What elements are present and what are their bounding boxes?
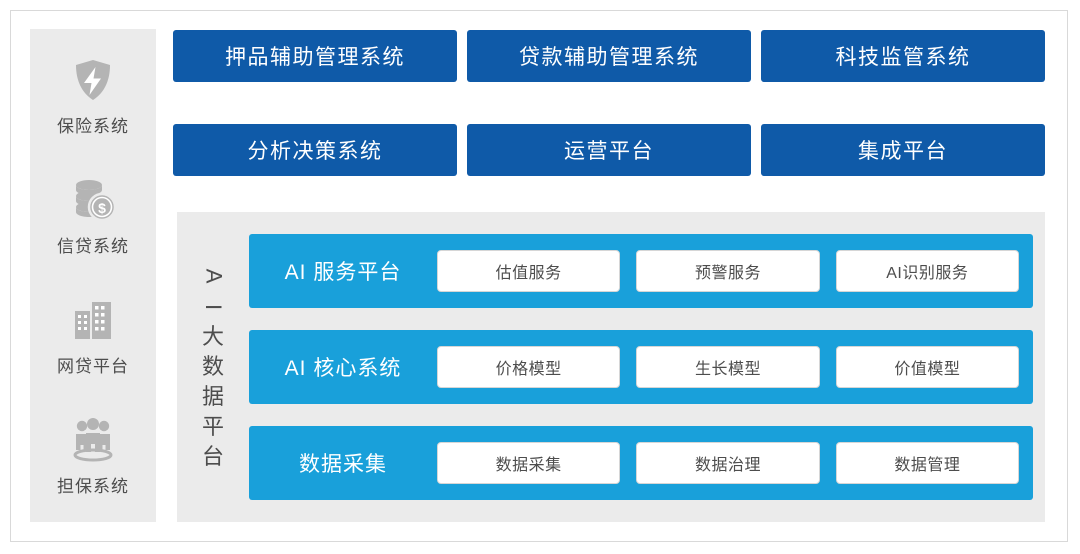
people-group-icon <box>65 414 121 466</box>
vertical-char-I: I <box>199 304 227 310</box>
ai-layer-data-collection[interactable]: 数据采集 数据采集 数据治理 数据管理 <box>249 426 1033 500</box>
chip-price-model[interactable]: 价格模型 <box>437 346 620 388</box>
system-bar-operations-platform[interactable]: 运营平台 <box>467 124 751 176</box>
vertical-char-da: 大 <box>202 323 224 351</box>
sidebar-item-insurance[interactable]: 保险系统 <box>30 54 156 137</box>
sidebar-item-label: 信贷系统 <box>57 232 129 257</box>
chip-data-management[interactable]: 数据管理 <box>836 442 1019 484</box>
platform-systems-row: 分析决策系统 运营平台 集成平台 <box>173 124 1045 176</box>
shield-bolt-icon <box>65 54 121 106</box>
sidebar-item-credit[interactable]: $ 信贷系统 <box>30 174 156 257</box>
vertical-char-shu: 数 <box>202 353 224 381</box>
system-bar-analysis-decision[interactable]: 分析决策系统 <box>173 124 457 176</box>
ai-layer-service-platform[interactable]: AI 服务平台 估值服务 预警服务 AI识别服务 <box>249 234 1033 308</box>
sidebar-item-online-lending[interactable]: 网贷平台 <box>30 294 156 377</box>
ai-layer-chip-group: 价格模型 生长模型 价值模型 <box>437 346 1019 388</box>
ai-layer-core-system[interactable]: AI 核心系统 价格模型 生长模型 价值模型 <box>249 330 1033 404</box>
ai-layer-rows: AI 服务平台 估值服务 预警服务 AI识别服务 AI 核心系统 价格模型 生长… <box>249 212 1045 522</box>
chip-ai-recognition-service[interactable]: AI识别服务 <box>836 250 1019 292</box>
ai-layer-chip-group: 数据采集 数据治理 数据管理 <box>437 442 1019 484</box>
source-systems-sidebar: 保险系统 $ 信贷系统 <box>30 29 156 522</box>
ai-layer-title: AI 服务平台 <box>249 256 437 286</box>
chip-growth-model[interactable]: 生长模型 <box>636 346 819 388</box>
buildings-icon <box>65 294 121 346</box>
sidebar-item-guarantee[interactable]: 担保系统 <box>30 414 156 497</box>
system-bar-integration-platform[interactable]: 集成平台 <box>761 124 1045 176</box>
ai-bigdata-platform-panel: A I 大 数 据 平 台 AI 服务平台 估值服务 预警服务 AI识别服务 A… <box>177 212 1045 522</box>
ai-layer-chip-group: 估值服务 预警服务 AI识别服务 <box>437 250 1019 292</box>
chip-data-governance[interactable]: 数据治理 <box>636 442 819 484</box>
application-systems-row: 押品辅助管理系统 贷款辅助管理系统 科技监管系统 <box>173 30 1045 82</box>
system-bar-tech-supervision[interactable]: 科技监管系统 <box>761 30 1045 82</box>
sidebar-item-label: 担保系统 <box>57 472 129 497</box>
sidebar-item-label: 保险系统 <box>57 112 129 137</box>
system-bar-loan-aux[interactable]: 贷款辅助管理系统 <box>467 30 751 82</box>
vertical-char-A: A <box>199 269 227 284</box>
vertical-char-tai: 台 <box>202 443 224 471</box>
coins-dollar-icon: $ <box>65 174 121 226</box>
ai-layer-title: 数据采集 <box>249 448 437 478</box>
ai-layer-title: AI 核心系统 <box>249 352 437 382</box>
chip-data-collection[interactable]: 数据采集 <box>437 442 620 484</box>
chip-alert-service[interactable]: 预警服务 <box>636 250 819 292</box>
architecture-diagram: 保险系统 $ 信贷系统 <box>0 0 1080 554</box>
chip-value-model[interactable]: 价值模型 <box>836 346 1019 388</box>
svg-text:$: $ <box>98 200 106 216</box>
sidebar-item-label: 网贷平台 <box>57 352 129 377</box>
vertical-char-ping: 平 <box>202 413 224 441</box>
ai-platform-vertical-label: A I 大 数 据 平 台 <box>177 212 249 522</box>
vertical-char-ju: 据 <box>202 383 224 411</box>
system-bar-collateral-aux[interactable]: 押品辅助管理系统 <box>173 30 457 82</box>
chip-valuation-service[interactable]: 估值服务 <box>437 250 620 292</box>
